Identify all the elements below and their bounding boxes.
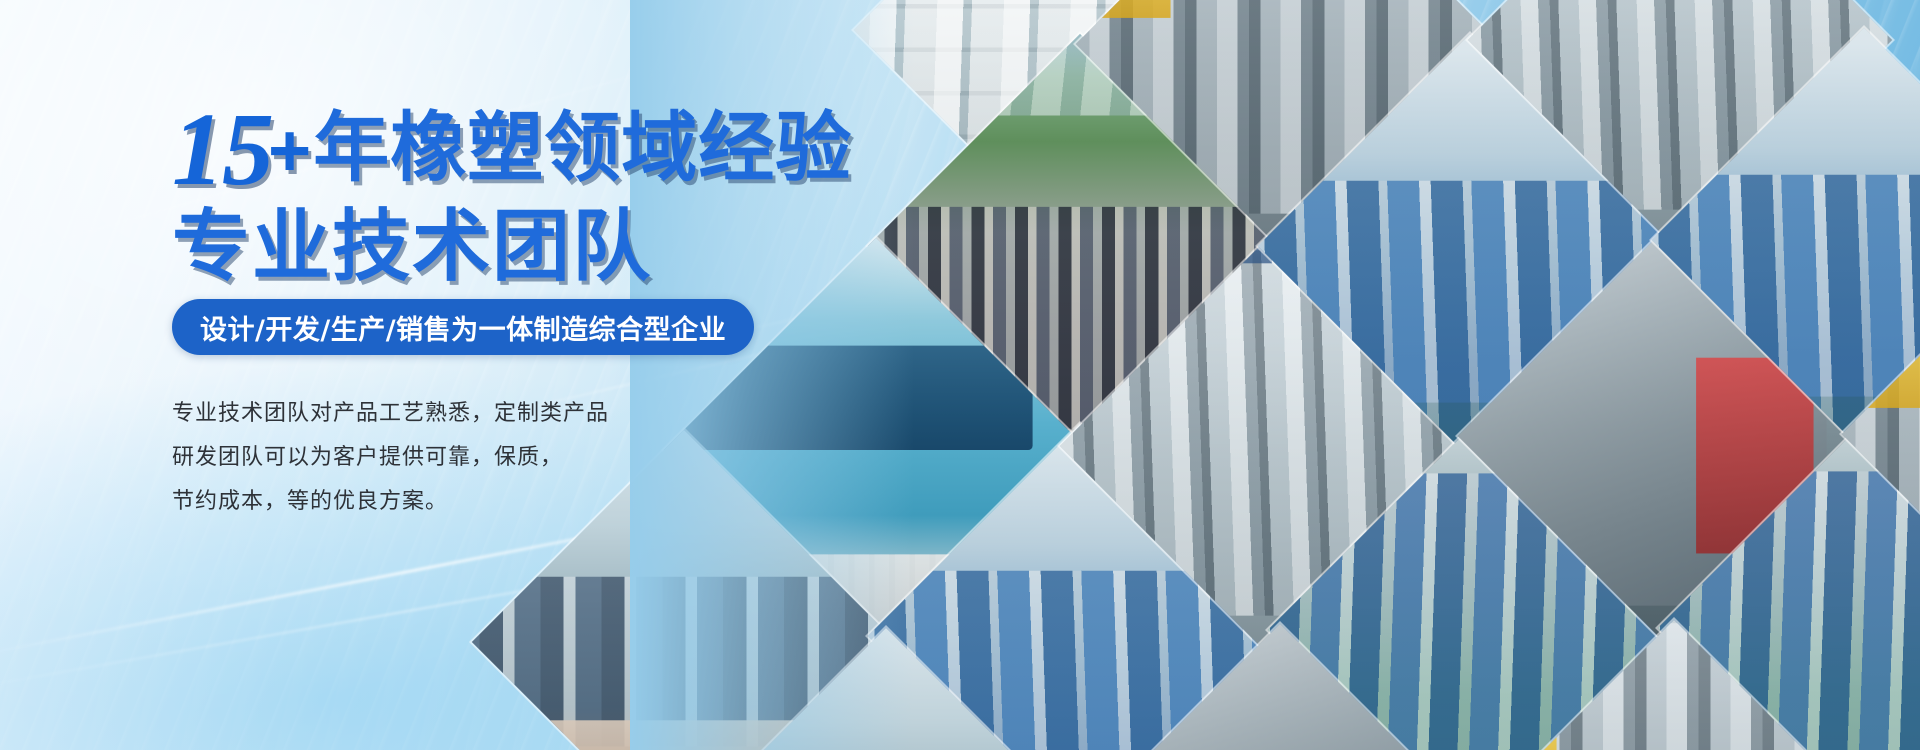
headline: 15+年橡塑领域经验 专业技术团队 [172,98,852,286]
description-line-3: 节约成本，等的优良方案。 [172,480,609,524]
description-line-1: 专业技术团队对产品工艺熟悉，定制类产品 [172,392,609,436]
photo-assembly-green-floor [1268,418,1692,750]
banner-content: 15+年橡塑领域经验 专业技术团队 设计/开发/生产/销售为一体制造综合型企业 … [0,0,940,750]
photo-cleanroom-workers [1652,28,1920,452]
photo-production-line [1462,620,1886,750]
headline-suffix: 年橡塑领域经验 [313,110,852,186]
photo-production-line [1076,0,1500,256]
headline-line-1: 15+年橡塑领域经验 [172,98,852,202]
plus-sign: + [268,114,311,188]
photo-production-line [1842,222,1920,646]
description-line-2: 研发团队可以为客户提供可靠，保质， [172,436,609,480]
photo-press-machine [1458,224,1882,648]
description-paragraph: 专业技术团队对产品工艺熟悉，定制类产品 研发团队可以为客户提供可靠，保质， 节约… [172,392,609,524]
photo-press-machine [1068,624,1492,750]
headline-line-2: 专业技术团队 [172,208,852,286]
photo-assembly-green-floor [1658,416,1920,750]
headline-subtitle: 专业技术团队 [172,208,652,286]
years-number: 15 [172,98,272,202]
tagline-pill: 设计/开发/生产/销售为一体制造综合型企业 [172,299,754,355]
promo-banner: 15+年橡塑领域经验 专业技术团队 设计/开发/生产/销售为一体制造综合型企业 … [0,0,1920,750]
photo-machinery-room [1468,0,1892,252]
photo-machinery-room [1060,234,1484,658]
photo-cleanroom-workers [1258,34,1682,458]
